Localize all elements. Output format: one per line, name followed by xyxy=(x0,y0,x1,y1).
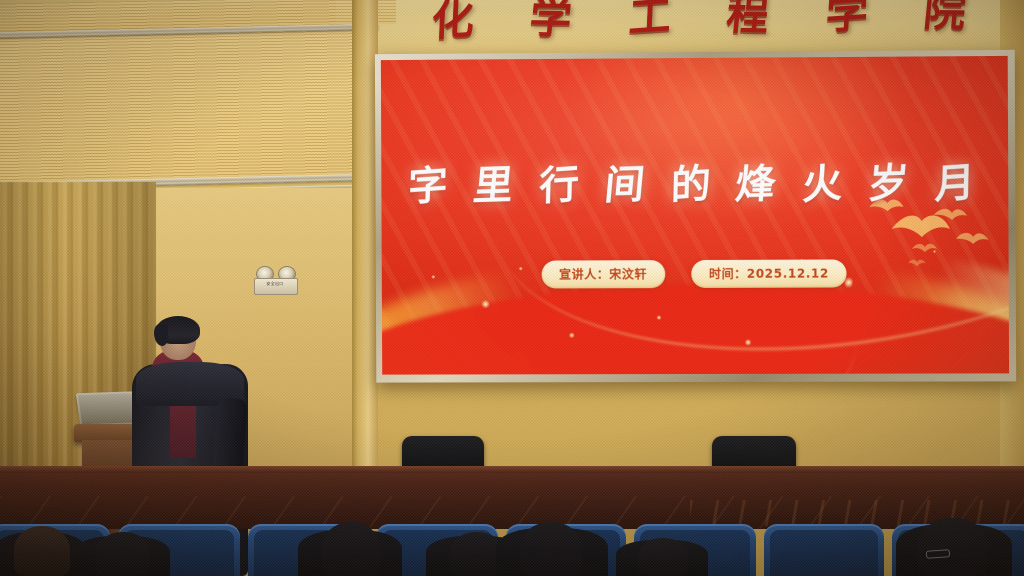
slide-title-char: 火 xyxy=(802,150,849,211)
audience-head xyxy=(520,522,582,576)
audience-seating xyxy=(0,524,1024,576)
slide-title: 字 里 行 间 的 烽 火 岁 月 xyxy=(381,150,1008,211)
wall-title-char: 化 xyxy=(429,0,480,48)
audience-head xyxy=(918,518,988,576)
slide-title-char: 的 xyxy=(670,150,717,211)
audience-head xyxy=(322,522,380,576)
wood-slat-panel-main xyxy=(0,24,374,183)
date-badge: 时间：2025.12.12 xyxy=(691,259,847,288)
led-screen-frame: 字 里 行 间 的 烽 火 岁 月 宣讲人：宋汶轩 时间：2025.12.12 xyxy=(375,50,1016,383)
wall-title-char: 学 xyxy=(822,0,873,42)
slide-title-char: 月 xyxy=(934,149,982,210)
audience-head xyxy=(96,532,150,576)
wall-title-char: 院 xyxy=(919,0,973,39)
presenter-hair-side xyxy=(154,324,168,346)
audience-head xyxy=(638,538,688,576)
wall-title-char: 学 xyxy=(525,0,579,46)
slide-badge-row: 宣讲人：宋汶轩 时间：2025.12.12 xyxy=(382,259,1009,289)
audience-head xyxy=(14,526,70,576)
emergency-exit-light: 安全出口 xyxy=(248,266,302,294)
slide-title-char: 岁 xyxy=(866,150,918,210)
audience-seat xyxy=(764,524,884,576)
slide-title-char: 烽 xyxy=(734,151,785,211)
wall-title-char: 程 xyxy=(722,0,776,42)
slide-title-char: 间 xyxy=(602,152,653,212)
slide-title-char: 行 xyxy=(538,151,585,212)
screen-sparkle xyxy=(656,315,661,320)
audience-glasses-icon xyxy=(926,549,950,559)
speaker-badge: 宣讲人：宋汶轩 xyxy=(541,260,665,288)
wall-title-char: 工 xyxy=(625,0,676,45)
exit-light-label: 安全出口 xyxy=(256,281,294,286)
lecture-hall-photo: 安全出口 化 学 工 程 学 院 xyxy=(0,0,1024,576)
slide-title-char: 字 xyxy=(407,152,454,213)
screen-sparkle xyxy=(744,339,751,346)
presidium-table-edge xyxy=(0,466,1024,473)
slide-title-char: 里 xyxy=(471,152,522,211)
led-screen-display: 字 里 行 间 的 烽 火 岁 月 宣讲人：宋汶轩 时间：2025.12.12 xyxy=(381,56,1009,375)
